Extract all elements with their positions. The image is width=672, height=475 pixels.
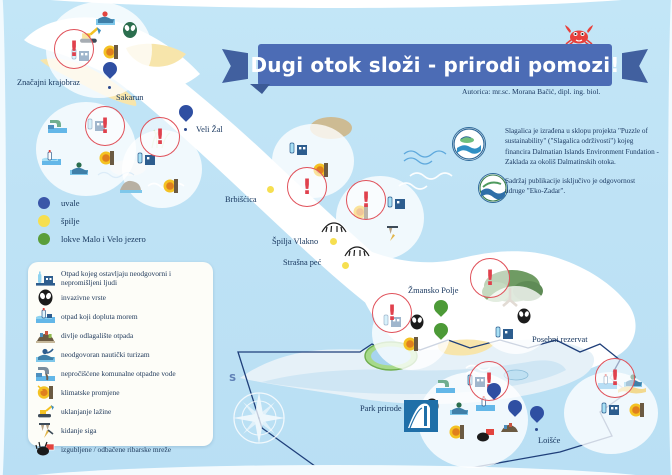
pic-litter-4: [290, 143, 307, 155]
warning-badge[interactable]: !: [470, 258, 510, 298]
map-label-veli-zal: Veli Žal: [196, 125, 223, 134]
pic-climate-7: [450, 425, 465, 439]
cave-entrance-icon-vlakno: [322, 223, 346, 232]
pin-anchor-dot: [108, 86, 111, 89]
map-label-spilja-vlakno: Špilja Vlakno: [272, 237, 318, 246]
warning-badge[interactable]: !: [54, 29, 94, 69]
pin-loisce-3[interactable]: [530, 406, 544, 425]
map-label-strasna-pec: Strašna peć: [283, 258, 321, 267]
pic-alien-2: [411, 315, 424, 330]
cave-dot-strasna-pec[interactable]: [342, 262, 349, 269]
cave-entrance-icon-strasna-pec: [345, 247, 369, 256]
pic-alien-3: [518, 309, 531, 324]
pic-alien: [123, 22, 137, 38]
pin-loisce-1[interactable]: [487, 383, 501, 402]
pic-dump: [501, 423, 518, 432]
pic-nautical-3: [450, 402, 468, 415]
poster-canvas: Dugi otok složi - prirodi pomozi! Autori…: [0, 0, 672, 475]
pin-loisce-2[interactable]: [508, 400, 522, 419]
warning-badge[interactable]: !: [140, 117, 180, 157]
pic-nautical-2: [70, 162, 88, 175]
pic-climate-3: [164, 179, 179, 193]
warning-badge[interactable]: !: [595, 358, 635, 398]
pin-veli-zal[interactable]: [179, 105, 193, 124]
pin-anchor-dot: [535, 428, 538, 431]
warning-badge[interactable]: !: [346, 180, 386, 220]
map-label-sakarun: Sakarun: [116, 93, 143, 102]
pic-litter-5: [388, 197, 405, 209]
cluster-pictograms: [0, 0, 672, 475]
warning-badge[interactable]: !: [372, 293, 412, 333]
warning-badge[interactable]: !: [287, 167, 327, 207]
pic-climate-8: [630, 403, 645, 417]
pic-climate-6: [404, 337, 419, 351]
map-label-zmansko-polje: Žmansko Polje: [408, 286, 458, 295]
pic-ghost-net: [477, 429, 494, 442]
pic-litter-9: [602, 403, 619, 415]
pic-nautical-tourism: [96, 11, 115, 25]
park-prirode-telascica-logo: [404, 400, 438, 432]
compass-north-label: S: [229, 373, 236, 384]
pin-sakarun[interactable]: [103, 62, 117, 81]
pic-litter-7: [496, 327, 513, 339]
pic-climate-2: [100, 151, 115, 165]
map-label-brbiscica: Brbišćica: [225, 195, 257, 204]
map-label-znacajni-krajobraz: Značajni krajobraz: [17, 78, 80, 87]
pic-floating-litter: [42, 150, 61, 165]
pic-stalactite: [387, 226, 398, 241]
map-label-posebni-rezervat: Posebni rezervat: [532, 335, 588, 344]
cave-dot-brbiscica[interactable]: [267, 186, 274, 193]
pin-zmansko-polje-2[interactable]: [434, 323, 448, 342]
pic-rock: [120, 181, 142, 193]
map-label-park-prirode: Park prirode: [360, 404, 402, 413]
pic-climate: [104, 45, 119, 59]
pic-wastewater-2: [436, 380, 455, 393]
pin-zmansko-polje-1[interactable]: [434, 300, 448, 319]
pic-wastewater: [48, 120, 67, 133]
warning-badge[interactable]: !: [85, 106, 125, 146]
pin-anchor-dot: [184, 128, 187, 131]
map-label-loisce: Loišće: [538, 436, 560, 445]
cave-dot-spilja-vlakno[interactable]: [330, 238, 337, 245]
